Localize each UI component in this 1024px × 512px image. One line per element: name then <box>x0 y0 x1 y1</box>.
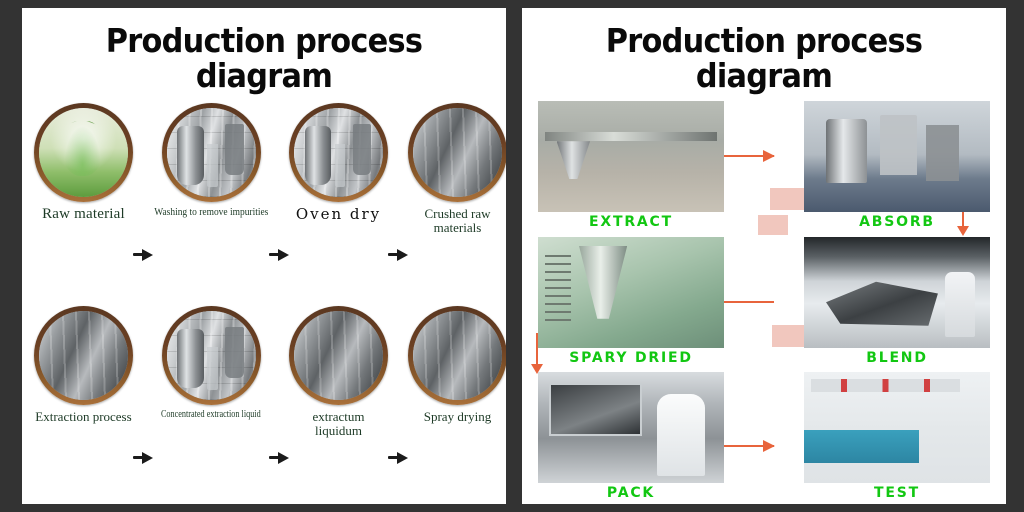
process-step-extraction-process[interactable]: Extraction process <box>34 306 133 424</box>
qc-laboratory-photo <box>804 372 990 483</box>
right-row-1: EXTRACT ABSORB <box>538 101 990 230</box>
circle-frame <box>289 103 388 202</box>
raw-material-photo <box>39 108 128 197</box>
arrow-right-icon <box>133 103 153 304</box>
right-steps-container: EXTRACT ABSORB SPARY DRIED BLEND <box>522 93 1006 501</box>
arrow-right-icon <box>269 306 289 504</box>
process-row-2: Extraction process Concentrated extracti… <box>28 306 500 504</box>
circle-frame <box>408 306 506 405</box>
right-panel-title: Production process diagram <box>541 8 986 93</box>
extraction-tanks-photo <box>538 101 724 212</box>
right-step-label: PACK <box>538 486 724 501</box>
process-step-oven-dry[interactable]: Oven dry <box>289 103 388 223</box>
extraction-plant-photo <box>39 311 128 400</box>
circle-frame <box>34 306 133 405</box>
panel-divider <box>506 0 522 512</box>
right-step-label: SPARY DRIED <box>538 351 724 366</box>
absorption-columns-photo <box>804 101 990 212</box>
arrow-right-icon <box>133 306 153 504</box>
right-row-2: SPARY DRIED BLEND <box>538 237 990 366</box>
process-step-spray-drying[interactable]: Spray drying <box>408 306 506 424</box>
right-step-test[interactable]: TEST <box>804 372 990 501</box>
packing-operator-photo <box>538 372 724 483</box>
right-production-diagram-panel: Production process diagram EXTRACT ABSOR… <box>522 8 1006 504</box>
right-step-extract[interactable]: EXTRACT <box>538 101 724 230</box>
right-step-label: ABSORB <box>804 215 990 230</box>
right-step-spary-dried[interactable]: SPARY DRIED <box>538 237 724 366</box>
process-step-washing[interactable]: Washing to remove impurities <box>153 103 269 219</box>
right-step-absorb[interactable]: ABSORB <box>804 101 990 230</box>
arrow-right-icon <box>388 103 408 304</box>
circle-frame <box>162 103 261 202</box>
step-label: extractum liquidum <box>289 410 388 437</box>
step-label: Spray drying <box>424 410 492 424</box>
step-label: Crushed raw materials <box>408 207 506 234</box>
step-label: Oven dry <box>296 207 381 223</box>
circle-frame <box>34 103 133 202</box>
step-label: Raw material <box>42 207 125 223</box>
arrow-right-icon <box>388 306 408 504</box>
left-panel-title: Production process diagram <box>41 8 486 93</box>
step-label: Washing to remove impurities <box>154 207 268 219</box>
right-row-3: PACK TEST <box>538 372 990 501</box>
circle-frame <box>162 306 261 405</box>
circle-frame <box>408 103 506 202</box>
left-production-diagram-panel: Production process diagram Raw material … <box>22 8 506 504</box>
washing-equipment-photo <box>167 108 256 197</box>
process-step-raw-material[interactable]: Raw material <box>34 103 133 223</box>
step-label: Extraction process <box>35 410 131 424</box>
right-step-pack[interactable]: PACK <box>538 372 724 501</box>
blending-machine-photo <box>804 237 990 348</box>
step-label: Concentrated extraction liquid <box>161 410 261 421</box>
concentration-tanks-photo <box>167 311 256 400</box>
arrow-right-icon <box>269 103 289 304</box>
left-steps-container: Raw material Washing to remove impuritie… <box>22 93 506 504</box>
spray-drying-equipment-photo <box>413 311 502 400</box>
spray-dryer-room-photo <box>538 237 724 348</box>
extractum-liquidum-photo <box>294 311 383 400</box>
right-step-label: EXTRACT <box>538 215 724 230</box>
right-step-label: TEST <box>804 486 990 501</box>
process-step-extractum-liquidum[interactable]: extractum liquidum <box>289 306 388 437</box>
crushing-equipment-photo <box>413 108 502 197</box>
process-step-crushed-raw-materials[interactable]: Crushed raw materials <box>408 103 506 234</box>
right-step-label: BLEND <box>804 351 990 366</box>
process-row-1: Raw material Washing to remove impuritie… <box>28 103 500 304</box>
oven-dry-equipment-photo <box>294 108 383 197</box>
right-step-blend[interactable]: BLEND <box>804 237 990 366</box>
circle-frame <box>289 306 388 405</box>
screenshot-root: Production process diagram Raw material … <box>0 0 1024 512</box>
process-step-concentrated-extraction-liquid[interactable]: Concentrated extraction liquid <box>153 306 269 421</box>
